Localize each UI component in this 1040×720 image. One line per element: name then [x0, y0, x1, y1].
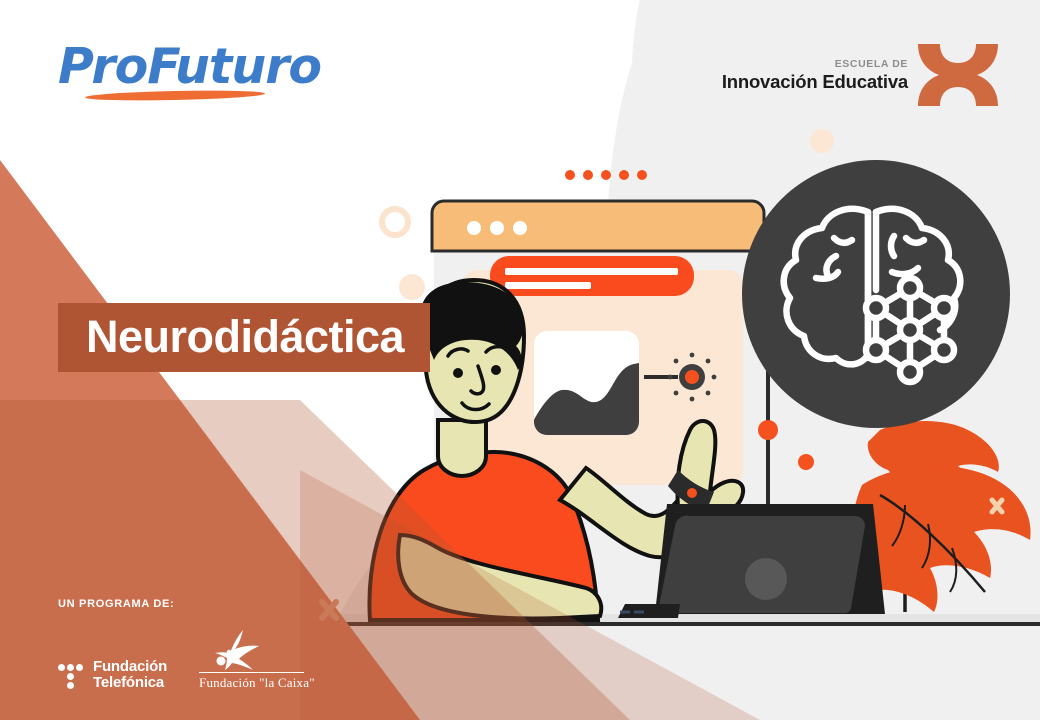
profuturo-logo[interactable]: ProFuturo	[58, 38, 288, 108]
caixa-divider	[199, 672, 304, 673]
fundacion-la-caixa-logo[interactable]: Fundación "la Caixa"	[199, 628, 304, 691]
sponsor-block: UN PROGRAMA DE: Fundación Telefónica	[58, 598, 304, 691]
telefonica-dots-icon	[58, 660, 84, 690]
brain-badge	[742, 160, 1010, 428]
sponsor-row: Fundación Telefónica Fundación "la Caixa…	[58, 628, 304, 691]
telefonica-wordmark: Fundación Telefónica	[93, 659, 167, 691]
fundacion-telefonica-logo[interactable]: Fundación Telefónica	[58, 659, 167, 691]
telefonica-line2: Telefónica	[93, 675, 167, 691]
escuela-text-block: ESCUELA DE Innovación Educativa	[722, 59, 908, 91]
escuela-kicker: ESCUELA DE	[722, 59, 908, 70]
profuturo-wordmark: ProFuturo	[58, 38, 288, 96]
triangle-overlay-2	[300, 470, 760, 720]
slide-title-band: Neurodidáctica	[58, 303, 430, 372]
sponsor-label: UN PROGRAMA DE:	[58, 598, 304, 610]
caixa-star-icon	[199, 628, 304, 670]
page-title: Neurodidáctica	[86, 314, 404, 359]
x-mark-icon	[918, 44, 998, 106]
escuela-innovacion-logo[interactable]: ESCUELA DE Innovación Educativa	[722, 44, 998, 106]
caixa-caption: Fundación "la Caixa"	[199, 675, 304, 691]
slide-canvas: ProFuturo ESCUELA DE Innovación Educativ…	[0, 0, 1040, 720]
telefonica-line1: Fundación	[93, 659, 167, 675]
brain-circle-bg	[742, 160, 1010, 428]
escuela-name: Innovación Educativa	[722, 73, 908, 92]
